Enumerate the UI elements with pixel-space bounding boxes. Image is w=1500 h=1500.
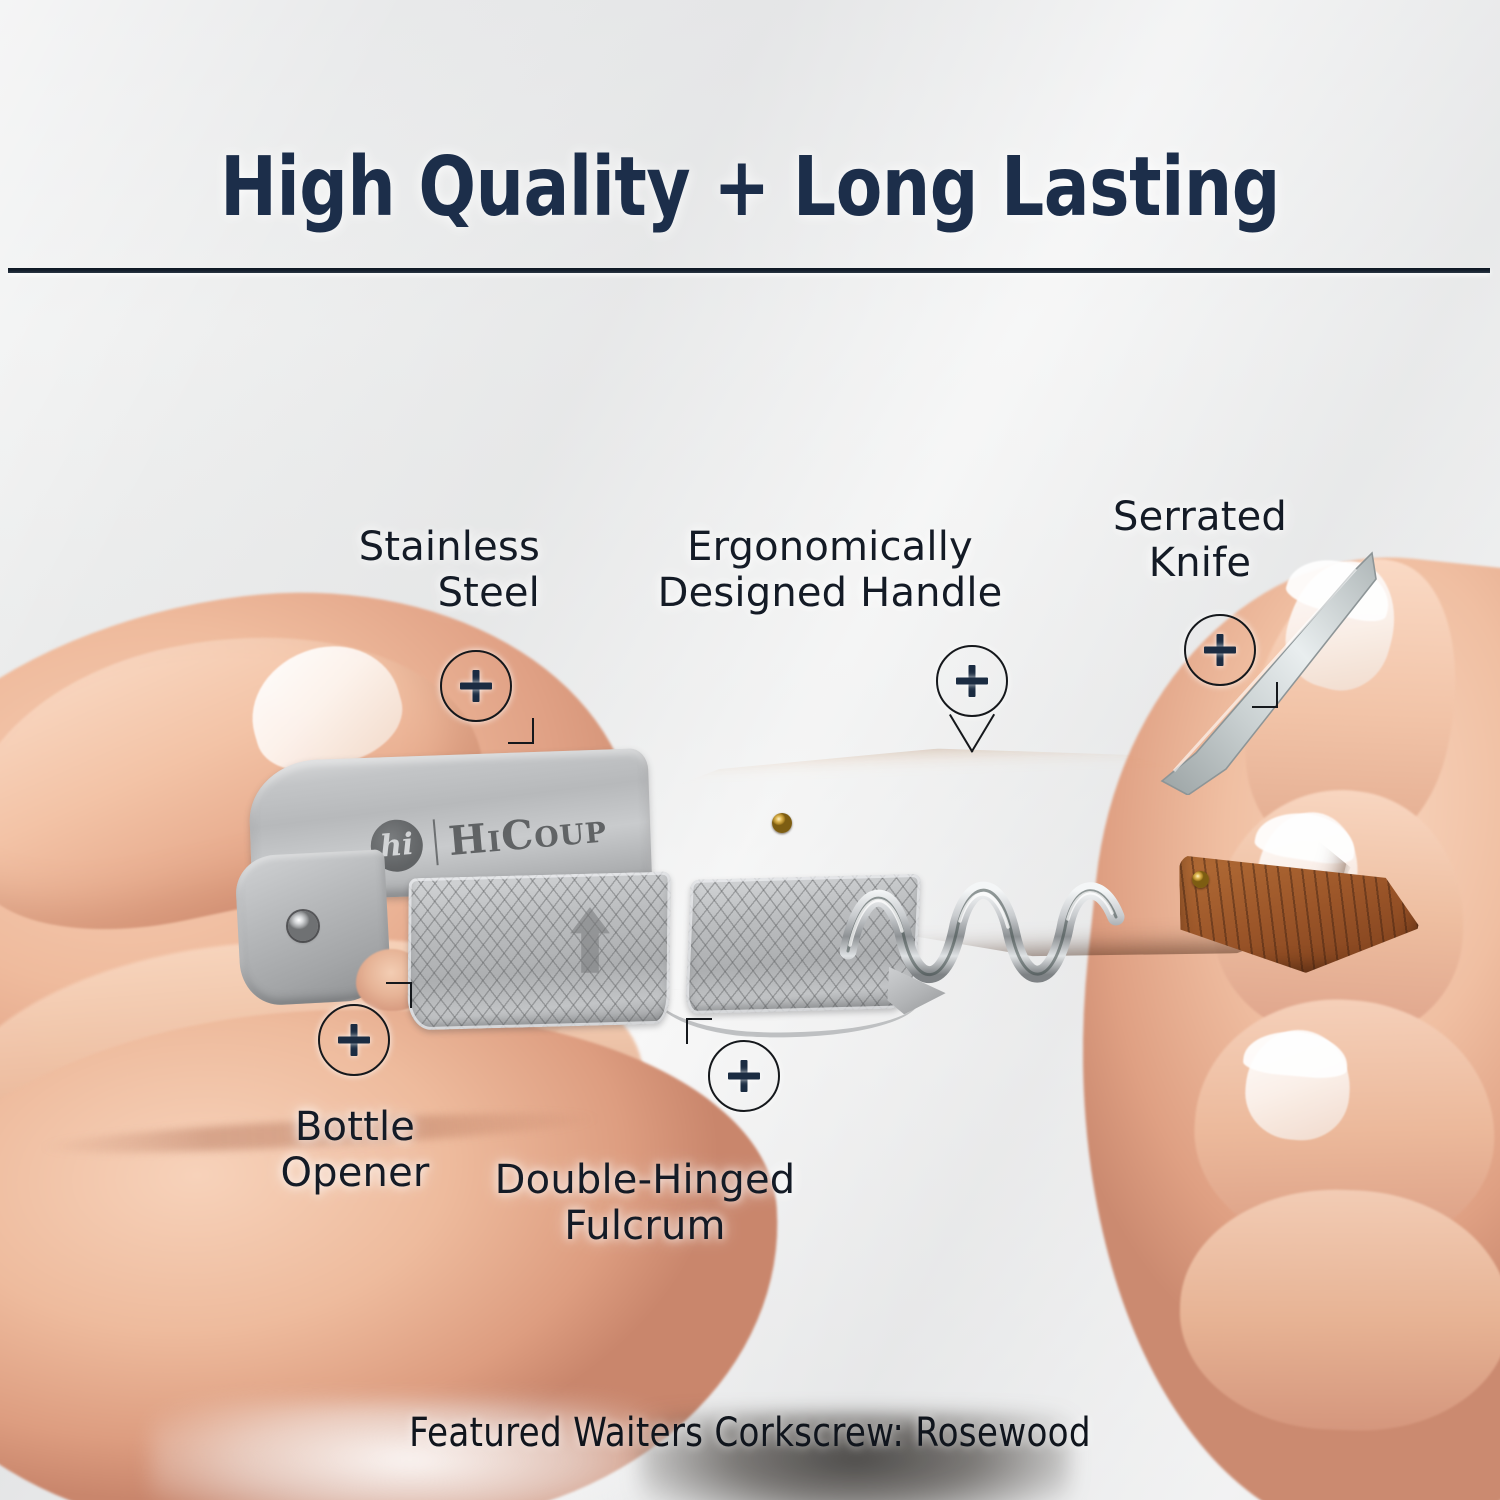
feature-label-double-hinged-fulcrum: Double-Hinged Fulcrum bbox=[455, 1158, 835, 1249]
marker-tail-corner-up-left bbox=[686, 1018, 712, 1044]
infographic-canvas: hi HiCoup bbox=[0, 0, 1500, 1500]
hicoup-logo: hi HiCoup bbox=[369, 801, 609, 873]
feature-marker-double-hinged-fulcrum[interactable] bbox=[708, 1040, 780, 1112]
brass-pin-rear bbox=[1192, 871, 1209, 888]
fulcrum-lever-first-step bbox=[407, 872, 670, 1031]
feature-label-bottle-opener: Bottle Opener bbox=[220, 1105, 490, 1196]
waiters-corkscrew: hi HiCoup bbox=[240, 735, 1380, 1065]
feature-label-stainless-steel: Stainless Steel bbox=[240, 525, 540, 616]
feature-label-serrated-knife: Serrated Knife bbox=[1050, 495, 1350, 586]
marker-tail-corner-up-right bbox=[386, 982, 412, 1008]
pivot-rivet bbox=[288, 911, 318, 941]
feature-marker-bottle-opener[interactable] bbox=[318, 1004, 390, 1076]
title-divider bbox=[8, 268, 1490, 273]
marker-tail-corner-down-right bbox=[1252, 682, 1278, 708]
marker-tail-pin-down bbox=[947, 715, 997, 751]
feature-label-ergonomic-handle: Ergonomically Designed Handle bbox=[620, 525, 1040, 616]
logo-divider bbox=[433, 819, 439, 865]
corkscrew-helix bbox=[840, 865, 1140, 995]
feature-marker-ergonomic-handle[interactable] bbox=[936, 645, 1008, 717]
product-caption: Featured Waiters Corkscrew: Rosewood bbox=[38, 1410, 1463, 1456]
page-title: High Quality + Long Lasting bbox=[60, 140, 1440, 235]
feature-marker-serrated-knife[interactable] bbox=[1184, 614, 1256, 686]
brass-pin-front bbox=[772, 813, 792, 833]
marker-tail-corner-down-right bbox=[508, 718, 534, 744]
feature-marker-stainless-steel[interactable] bbox=[440, 650, 512, 722]
hicoup-wordmark: HiCoup bbox=[447, 804, 609, 865]
